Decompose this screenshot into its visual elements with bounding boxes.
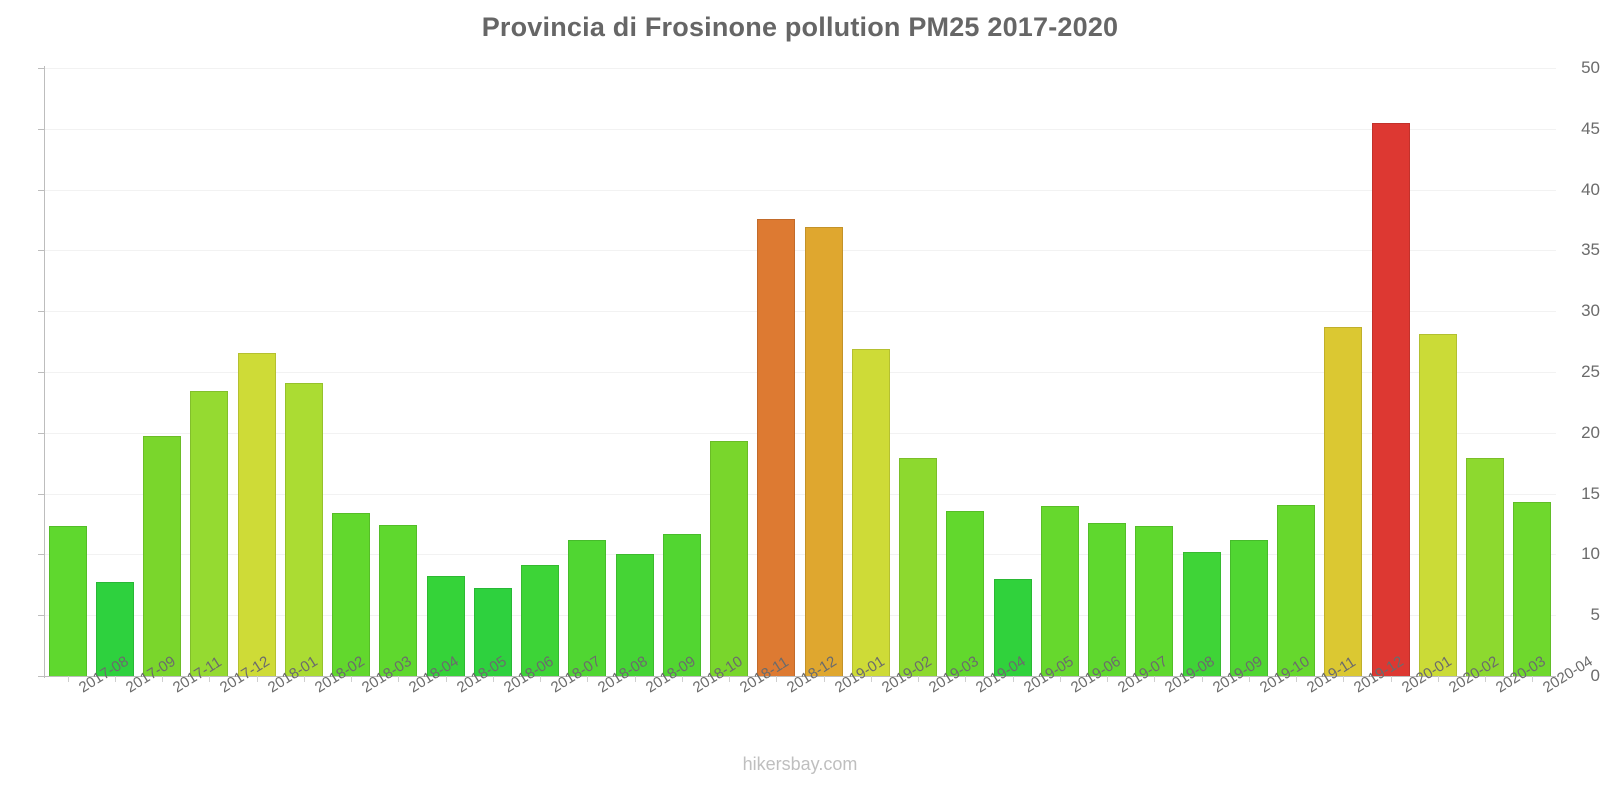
bar[interactable] — [379, 525, 417, 676]
x-tick-mark — [257, 676, 258, 682]
bar[interactable] — [1277, 505, 1315, 676]
x-tick-mark — [1343, 676, 1344, 682]
x-tick-mark — [729, 676, 730, 682]
x-tick-mark — [1154, 676, 1155, 682]
bar[interactable] — [757, 219, 795, 676]
x-tick-mark — [1060, 676, 1061, 682]
bar[interactable] — [1419, 334, 1457, 676]
bar[interactable] — [1230, 540, 1268, 676]
bar[interactable] — [143, 436, 181, 676]
bar[interactable] — [1041, 506, 1079, 676]
x-tick-mark — [776, 676, 777, 682]
x-tick-mark — [824, 676, 825, 682]
x-tick-mark — [115, 676, 116, 682]
bar[interactable] — [852, 349, 890, 676]
x-tick-mark — [1296, 676, 1297, 682]
bar[interactable] — [1324, 327, 1362, 676]
x-tick-mark — [1107, 676, 1108, 682]
x-tick-mark — [398, 676, 399, 682]
bar[interactable] — [946, 511, 984, 676]
bar[interactable] — [568, 540, 606, 676]
footer-credit: hikersbay.com — [0, 754, 1600, 775]
x-tick-mark — [304, 676, 305, 682]
x-tick-mark — [1202, 676, 1203, 682]
x-tick-mark — [1532, 676, 1533, 682]
x-tick-mark — [209, 676, 210, 682]
bar[interactable] — [238, 353, 276, 676]
x-tick-mark — [587, 676, 588, 682]
bar[interactable] — [1135, 526, 1173, 676]
bar[interactable] — [285, 383, 323, 676]
bar[interactable] — [49, 526, 87, 676]
bar[interactable] — [190, 391, 228, 676]
bar[interactable] — [1372, 123, 1410, 676]
x-tick-mark — [540, 676, 541, 682]
x-tick-mark — [68, 676, 69, 682]
bar[interactable] — [1513, 502, 1551, 676]
x-tick-mark — [1438, 676, 1439, 682]
x-tick-mark — [1013, 676, 1014, 682]
bar[interactable] — [710, 441, 748, 676]
x-tick-mark — [1249, 676, 1250, 682]
x-tick-mark — [918, 676, 919, 682]
x-tick-mark — [1391, 676, 1392, 682]
x-tick-mark — [965, 676, 966, 682]
bar[interactable] — [1466, 458, 1504, 676]
bar[interactable] — [663, 534, 701, 676]
x-tick-mark — [351, 676, 352, 682]
x-tick-mark — [1485, 676, 1486, 682]
x-tick-mark — [162, 676, 163, 682]
bar[interactable] — [1088, 523, 1126, 676]
bar[interactable] — [332, 513, 370, 676]
x-tick-mark — [635, 676, 636, 682]
x-tick-mark — [446, 676, 447, 682]
bar[interactable] — [805, 227, 843, 676]
x-tick-mark — [682, 676, 683, 682]
x-tick-mark — [871, 676, 872, 682]
pollution-bar-chart: Provincia di Frosinone pollution PM25 20… — [0, 0, 1600, 800]
x-tick-mark — [493, 676, 494, 682]
bar[interactable] — [899, 458, 937, 676]
